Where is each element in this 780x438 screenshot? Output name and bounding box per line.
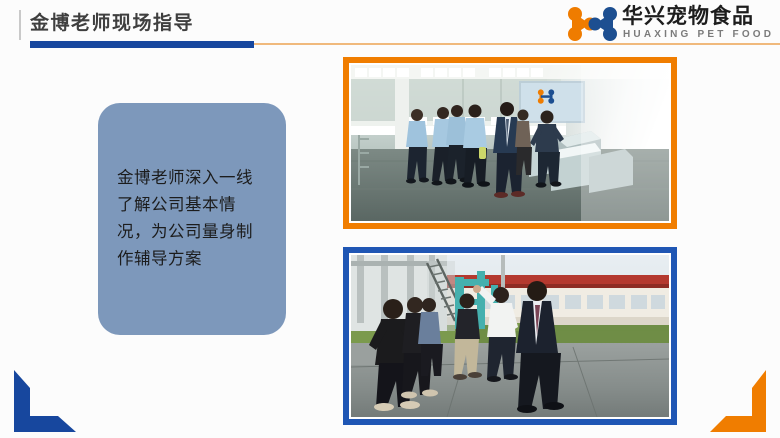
- corner-decoration-bottom-left: [4, 366, 82, 434]
- photo-exhibition-hall: [343, 57, 677, 229]
- title-left-divider: [19, 10, 21, 40]
- slide-canvas: 金博老师现场指导 华兴宠物: [0, 0, 780, 438]
- logo-name-cn: 华兴宠物食品: [622, 5, 754, 29]
- photo-factory-yard-image: [351, 255, 669, 417]
- huaxing-molecule-mark-icon: [566, 6, 620, 42]
- title-underline-primary: [30, 41, 254, 48]
- page-title: 金博老师现场指导: [30, 10, 194, 38]
- logo-name-en: HUAXING PET FOOD: [623, 29, 774, 41]
- photo-exhibition-hall-image: [351, 65, 669, 221]
- callout-text: 金博老师深入一线了解公司基本情况，为公司量身制作辅导方案: [117, 165, 267, 273]
- photo-factory-yard: [343, 247, 677, 425]
- callout-box: 金博老师深入一线了解公司基本情况，为公司量身制作辅导方案: [98, 103, 286, 335]
- corner-decoration-bottom-right: [706, 368, 776, 434]
- brand-logo: 华兴宠物食品 HUAXING PET FOOD: [566, 4, 776, 44]
